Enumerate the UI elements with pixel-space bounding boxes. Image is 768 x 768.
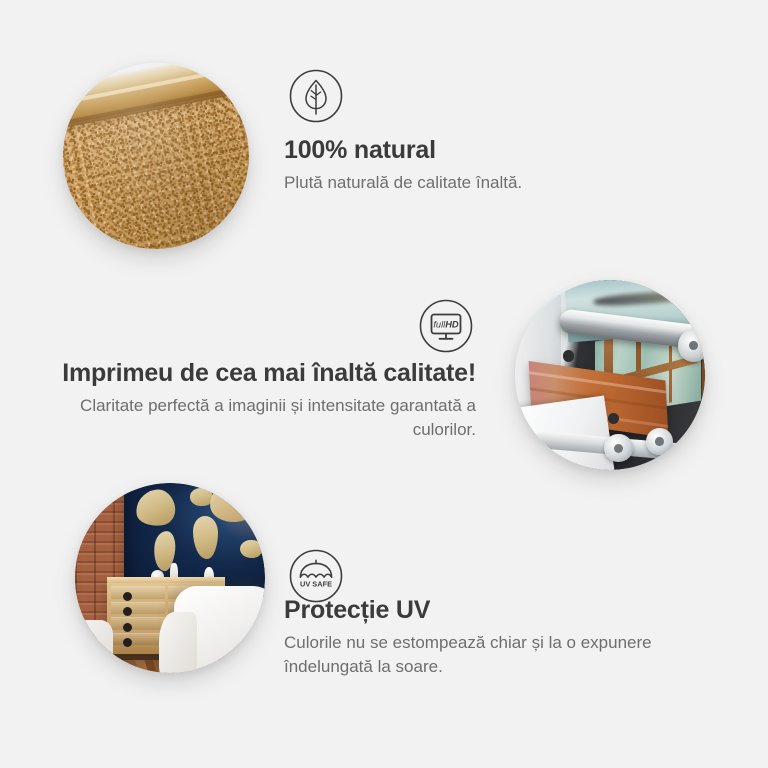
leaf-icon [288,68,344,124]
cork-closeup-photo [63,63,249,249]
cork-photo-inner [63,63,249,249]
printer-photo-inner [515,280,705,470]
continent-africa [193,516,218,560]
drawer [111,586,165,599]
feature-text-uv-protection: Protecție UV Culorile nu se estompează c… [284,595,714,679]
uv-safe-icon-label: UV SAFE [300,580,332,589]
feature-heading-print-quality: Imprimeu de cea mai înaltă calitate! [60,358,476,388]
fullhd-icon-label-hd: HD [445,320,459,330]
printer-knob-left [604,434,633,463]
feature-heading-natural: 100% natural [284,135,714,165]
drawer [111,602,165,615]
printer-screw-upper [563,350,574,361]
printer-knob-right [646,428,673,455]
living-room-world-map-photo [75,483,265,673]
drawer [111,633,165,646]
living-room-photo-inner [75,483,265,673]
armchair-left [75,620,113,673]
feature-body-natural: Plută naturală de calitate înaltă. [284,171,714,195]
armchair-right [174,586,265,673]
printer-roller-cap [678,329,705,361]
drawer [111,617,165,630]
feature-heading-uv-protection: Protecție UV [284,595,714,625]
cork-photo-shading [63,63,249,249]
continent-europe [190,488,214,506]
feature-body-uv-protection: Culorile nu se estompează chiar și la o … [284,631,714,679]
continent-asia [209,483,262,523]
feature-text-print-quality: Imprimeu de cea mai înaltă calitate! Cla… [60,358,476,442]
large-format-printer-photo [515,280,705,470]
feature-text-natural: 100% natural Plută naturală de calitate … [284,135,714,195]
feature-panel: 100% natural Plută naturală de calitate … [0,0,768,768]
continent-australia [240,540,262,558]
feature-body-print-quality: Claritate perfectă a imaginii și intensi… [60,394,476,442]
fullhd-icon-label-full: fullHD [433,320,459,330]
continent-north-america [134,487,177,528]
fullhd-monitor-icon: fullHD [418,298,474,354]
